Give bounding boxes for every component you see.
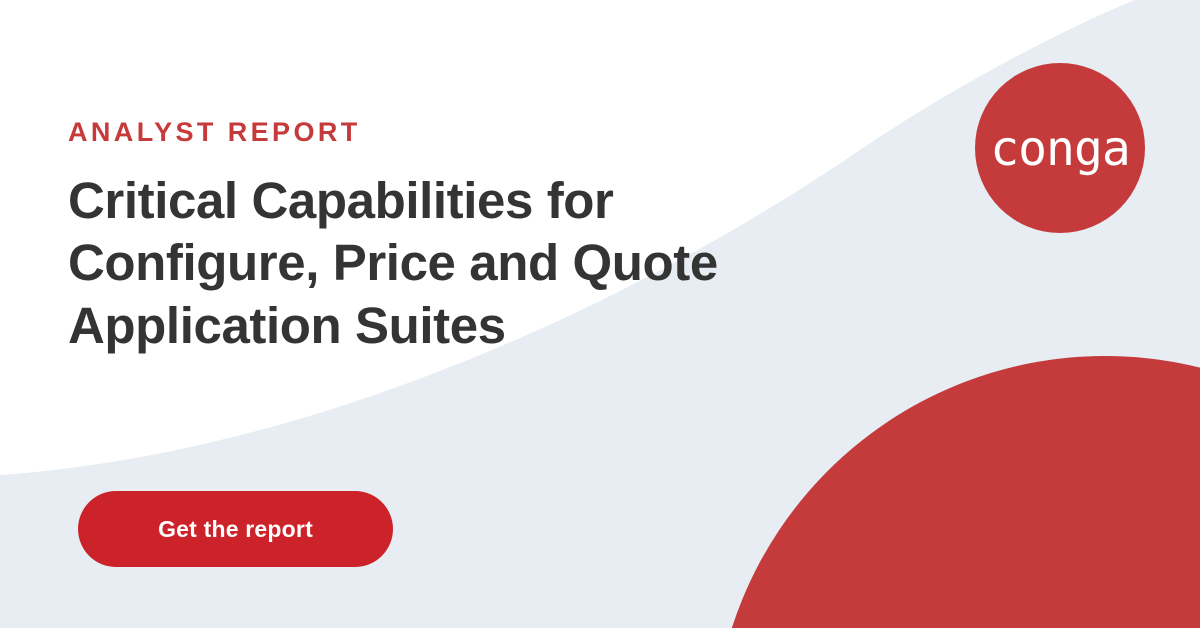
get-the-report-button[interactable]: Get the report (78, 491, 393, 567)
eyebrow-label: ANALYST REPORT (68, 118, 788, 148)
analyst-report-banner: ANALYST REPORT Critical Capabilities for… (0, 0, 1200, 628)
page-title: Critical Capabilities for Configure, Pri… (68, 170, 788, 358)
text-column: ANALYST REPORT Critical Capabilities for… (68, 118, 788, 358)
banner-content: ANALYST REPORT Critical Capabilities for… (0, 0, 1200, 628)
headline-line-2: Configure, Price and Quote (68, 232, 788, 295)
conga-logo[interactable]: conga (975, 63, 1145, 233)
headline-line-3: Application Suites (68, 295, 788, 358)
headline-line-1: Critical Capabilities for (68, 170, 788, 233)
conga-wordmark: conga (990, 125, 1130, 173)
